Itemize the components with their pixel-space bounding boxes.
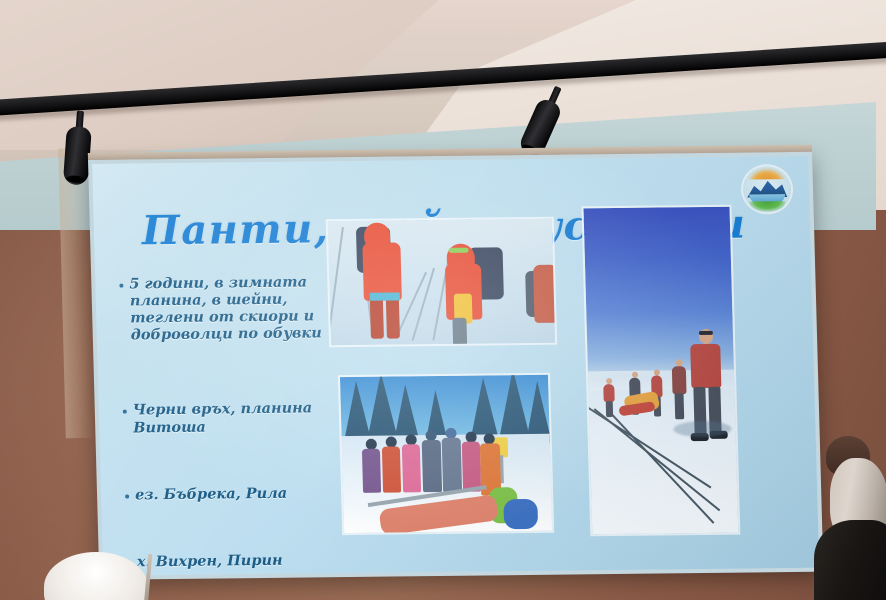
legs [606, 401, 613, 417]
logo-arc-text [746, 167, 786, 179]
ski-goggles [449, 248, 469, 253]
sunglasses [699, 331, 713, 335]
bullet-text: ез. Бъбрека, Рила [135, 484, 288, 503]
presentation-slide: Панти, шейни, усмивки 5 години, в зимнат… [92, 156, 819, 576]
leg [370, 295, 384, 339]
kneeling-person-lower [503, 499, 538, 529]
person-body [402, 444, 421, 492]
pine-tree [342, 381, 372, 443]
waist-band [370, 292, 400, 300]
person-body [362, 449, 381, 493]
torso [690, 344, 721, 388]
projection-screen: Панти, шейни, усмивки 5 години, в зимнат… [88, 152, 823, 580]
bullet-item: х. Вихрен, Пирин [125, 551, 343, 571]
head [676, 359, 683, 366]
bullet-item: ез. Бъбрека, Рила [123, 484, 341, 504]
leg [452, 318, 467, 346]
person-body [442, 438, 462, 492]
shoulders [814, 520, 886, 600]
bullet-item: 5 години, в зимната планина, в шейни, те… [117, 273, 337, 344]
pine-tree [392, 384, 420, 442]
room-scene: Панти, шейни, усмивки 5 години, в зимнат… [0, 0, 886, 600]
bullet-text: х. Вихрен, Пирин [137, 552, 283, 571]
bullet-item: Черни връх, планина Витоша [121, 400, 340, 437]
slide-bullet-list: 5 години, в зимната планина, в шейни, те… [117, 273, 343, 570]
torso [603, 384, 614, 402]
bullet-dot-icon [123, 410, 127, 414]
bullet-text: Черни връх, планина Витоша [133, 400, 340, 437]
torso [672, 366, 687, 394]
attendee-silhouette [806, 440, 886, 600]
person-body [382, 446, 401, 492]
red-jacket [533, 265, 557, 323]
leg [386, 294, 400, 338]
person-body [462, 442, 481, 492]
photo-group-in-snow [338, 373, 554, 535]
bullet-dot-icon [125, 494, 129, 498]
photo-skiers-red-jackets [326, 217, 557, 348]
photo-snowfield-sled-pull [581, 205, 740, 537]
legs [675, 393, 685, 419]
person-body [422, 440, 442, 492]
bullet-text: 5 години, в зимната планина, в шейни, те… [129, 273, 337, 344]
bullet-dot-icon [119, 284, 123, 288]
